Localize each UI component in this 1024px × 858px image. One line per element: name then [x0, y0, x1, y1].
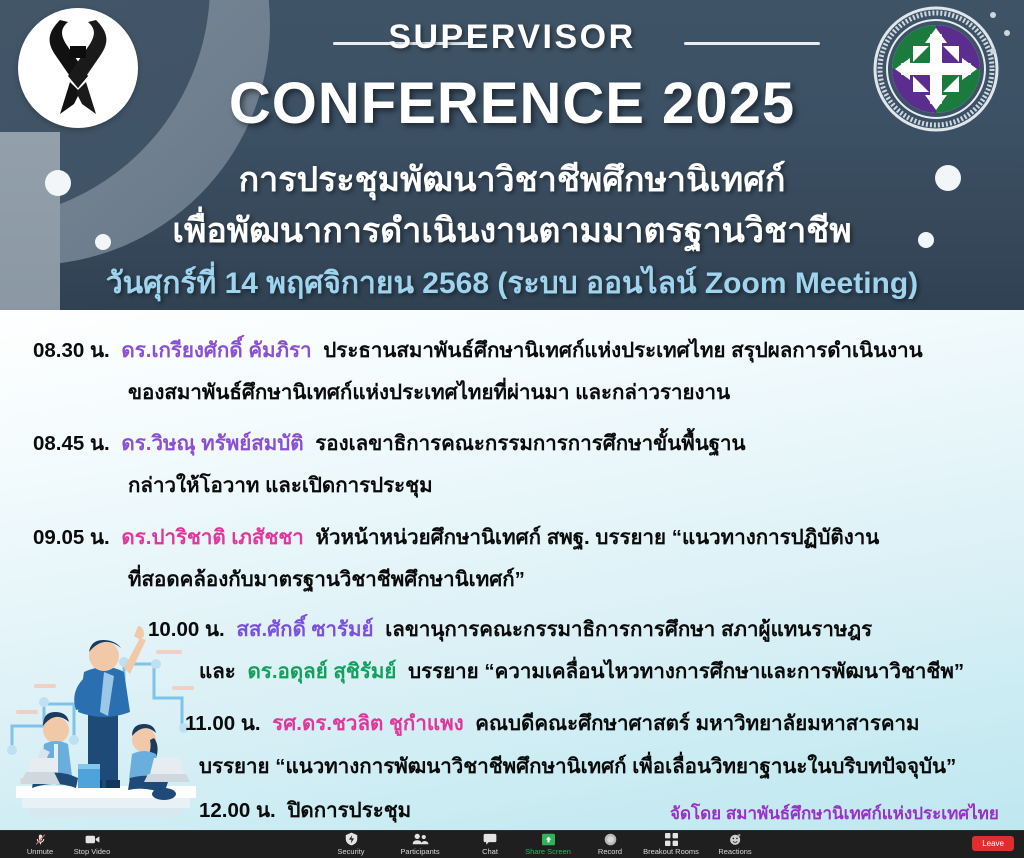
- agenda-detail: รองเลขาธิการคณะกรรมการการศึกษาขั้นพื้นฐา…: [315, 432, 745, 455]
- agenda-item-1000-line2: และ ดร.อดุลย์ สุชิรัมย์ บรรยาย “ความเคลื…: [199, 655, 964, 688]
- agenda-time: 08.45 น.: [33, 432, 110, 455]
- toolbar-label: Security: [316, 847, 386, 857]
- toolbar-label: Share Screen: [513, 847, 583, 857]
- toolbar-button-security[interactable]: Security: [316, 832, 386, 857]
- agenda-item-0830-line2: ของสมาพันธ์ศึกษานิเทศก์แห่งประเทศไทยที่ผ…: [128, 376, 730, 409]
- conference-title: CONFERENCE 2025: [0, 70, 1024, 137]
- toolbar-button-record[interactable]: Record: [575, 832, 645, 857]
- toolbar-button-breakout-rooms[interactable]: Breakout Rooms: [636, 832, 706, 857]
- agenda-item-1100: 11.00 น. รศ.ดร.ชวลิต ชูกำแพง คณบดีคณะศึก…: [185, 707, 920, 740]
- agenda-speaker-name: ดร.เกรียงศักดิ์ คัมภิรา: [121, 339, 311, 362]
- event-date-line: วันศุกร์ที่ 14 พฤศจิกายน 2568 (ระบบ ออนไ…: [0, 260, 1024, 307]
- agenda-detail-cont: บรรยาย “ความเคลื่อนไหวทางการศึกษาและการพ…: [408, 660, 964, 683]
- toolbar-button-reactions[interactable]: Reactions: [700, 832, 770, 857]
- agenda-time: 11.00 น.: [185, 712, 261, 735]
- zoom-shared-screen: SUPERVISOR CONFERENCE 2025 การประชุมพัฒน…: [0, 0, 1024, 858]
- agenda-speaker-name: ดร.วิษณุ ทรัพย์สมบัติ: [121, 432, 303, 455]
- record-icon: [575, 832, 645, 846]
- agenda-time: 12.00 น.: [199, 799, 276, 822]
- agenda-time: 09.05 น.: [33, 526, 110, 549]
- participants-icon: [385, 832, 455, 846]
- agenda-item-0905: 09.05 น. ดร.ปาริชาติ เภสัชชา หัวหน้าหน่ว…: [33, 521, 879, 554]
- agenda-detail: ปิดการประชุม: [287, 799, 411, 822]
- agenda-list: 08.30 น. ดร.เกรียงศักดิ์ คัมภิรา ประธานส…: [0, 310, 1024, 830]
- agenda-speaker-name: รศ.ดร.ชวลิต ชูกำแพง: [272, 712, 463, 735]
- agenda-detail: เลขานุการคณะกรรมาธิการการศึกษา สภาผู้แทน…: [385, 618, 872, 641]
- toolbar-label: Participants: [385, 847, 455, 857]
- agenda-detail: คณบดีคณะศึกษาศาสตร์ มหาวิทยาลัยมหาสารคาม: [475, 712, 919, 735]
- agenda-detail: ประธานสมาพันธ์ศึกษานิเทศก์แห่งประเทศไทย …: [323, 339, 922, 362]
- agenda-detail-cont: กล่าวให้โอวาท และเปิดการประชุม: [128, 474, 433, 497]
- agenda-item-0845: 08.45 น. ดร.วิษณุ ทรัพย์สมบัติ รองเลขาธิ…: [33, 427, 746, 460]
- agenda-item-0830: 08.30 น. ดร.เกรียงศักดิ์ คัมภิรา ประธานส…: [33, 334, 923, 367]
- agenda-speaker-name-secondary: ดร.อดุลย์ สุชิรัมย์: [248, 660, 397, 683]
- toolbar-button-stop-video[interactable]: Stop Video: [57, 832, 127, 857]
- toolbar-label: Breakout Rooms: [636, 847, 706, 857]
- agenda-speaker-name: สส.ศักดิ์ ซารัมย์: [236, 618, 373, 641]
- organizer-credit: จัดโดย สมาพันธ์ศึกษานิเทศก์แห่งประเทศไทย: [670, 800, 999, 827]
- leave-meeting-button[interactable]: Leave: [972, 836, 1014, 851]
- agenda-conjunction: และ: [199, 660, 236, 683]
- agenda-item-0905-line2: ที่สอดคล้องกับมาตรฐานวิชาชีพศึกษานิเทศก์…: [128, 563, 525, 596]
- thai-title-line-1: การประชุมพัฒนาวิชาชีพศึกษานิเทศก์: [0, 152, 1024, 206]
- shield-icon: [316, 832, 386, 846]
- agenda-time: 10.00 น.: [148, 618, 225, 641]
- agenda-detail: หัวหน้าหน่วยศึกษานิเทศก์ สพฐ. บรรยาย “แน…: [315, 526, 879, 549]
- agenda-item-1000: 10.00 น. สส.ศักดิ์ ซารัมย์ เลขานุการคณะก…: [148, 613, 872, 646]
- reactions-icon: [700, 832, 770, 846]
- agenda-body: 08.30 น. ดร.เกรียงศักดิ์ คัมภิรา ประธานส…: [0, 310, 1024, 830]
- agenda-item-0845-line2: กล่าวให้โอวาท และเปิดการประชุม: [128, 469, 433, 502]
- toolbar-button-participants[interactable]: Participants: [385, 832, 455, 857]
- zoom-meeting-toolbar: Unmute Stop Video Security: [0, 830, 1024, 858]
- toolbar-button-share-screen[interactable]: Share Screen: [513, 832, 583, 857]
- breakout-rooms-icon: [636, 832, 706, 846]
- video-camera-icon: [57, 832, 127, 846]
- agenda-speaker-name: ดร.ปาริชาติ เภสัชชา: [121, 526, 303, 549]
- toolbar-label: Stop Video: [57, 847, 127, 857]
- thai-title-line-2: เพื่อพัฒนาการดำเนินงานตามมาตรฐานวิชาชีพ: [0, 203, 1024, 257]
- agenda-detail-cont: บรรยาย “แนวทางการพัฒนาวิชาชีพศึกษานิเทศก…: [199, 755, 956, 778]
- conference-banner: SUPERVISOR CONFERENCE 2025 การประชุมพัฒน…: [0, 0, 1024, 310]
- toolbar-label: Record: [575, 847, 645, 857]
- agenda-time: 08.30 น.: [33, 339, 110, 362]
- agenda-detail-cont: ที่สอดคล้องกับมาตรฐานวิชาชีพศึกษานิเทศก์…: [128, 568, 525, 591]
- agenda-detail-cont: ของสมาพันธ์ศึกษานิเทศก์แห่งประเทศไทยที่ผ…: [128, 381, 730, 404]
- share-screen-icon: [513, 832, 583, 846]
- supervisor-label: SUPERVISOR: [0, 18, 1024, 57]
- agenda-item-1200: 12.00 น. ปิดการประชุม: [199, 794, 411, 827]
- toolbar-label: Reactions: [700, 847, 770, 857]
- agenda-item-1100-line2: บรรยาย “แนวทางการพัฒนาวิชาชีพศึกษานิเทศก…: [199, 750, 956, 783]
